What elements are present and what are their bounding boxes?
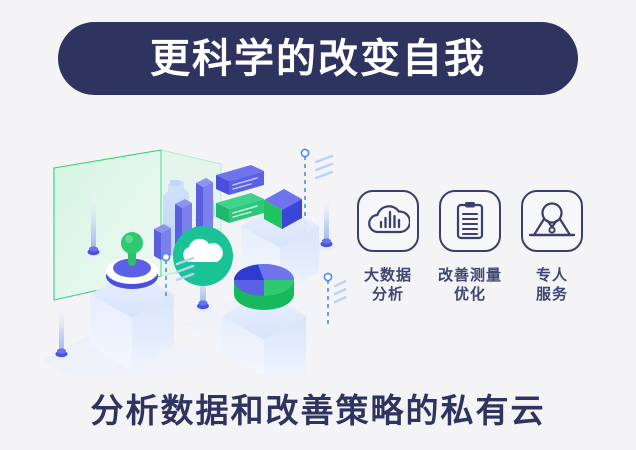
pin-marker [317, 190, 337, 251]
service-person-icon [521, 190, 583, 252]
tagline: 分析数据和改善策略的私有云 [0, 384, 636, 432]
feature-item-big-data-analysis[interactable]: 大数据 分析 [352, 190, 424, 304]
header-banner: 更科学的改变自我 [58, 22, 578, 95]
isometric-illustration [36, 128, 346, 376]
cloud-bar-chart-icon [357, 190, 419, 252]
feature-label-line1: 大数据 [364, 266, 412, 285]
feature-label: 专人 服务 [536, 266, 568, 304]
poster-canvas: 更科学的改变自我 [0, 0, 636, 450]
feature-label-line2: 分析 [364, 285, 412, 304]
feature-item-dedicated-service[interactable]: 专人 服务 [516, 190, 588, 304]
feature-label-line2: 服务 [536, 285, 568, 304]
feature-list: 大数据 分析 改善测量 [352, 190, 588, 330]
blue-tag-card [216, 165, 264, 195]
feature-label-line1: 改善测量 [438, 266, 502, 285]
page-title: 更科学的改变自我 [150, 39, 486, 79]
feature-label: 大数据 分析 [364, 266, 412, 304]
feature-label-line2: 优化 [438, 285, 502, 304]
clipboard-icon [439, 190, 501, 252]
pie-chart-icon [234, 264, 294, 310]
feature-item-measurement-optimization[interactable]: 改善测量 优化 [434, 190, 506, 304]
glass-pedestal-pie-chart [222, 264, 306, 376]
feature-label-line1: 专人 [536, 266, 568, 285]
feature-label: 改善测量 优化 [438, 266, 502, 304]
